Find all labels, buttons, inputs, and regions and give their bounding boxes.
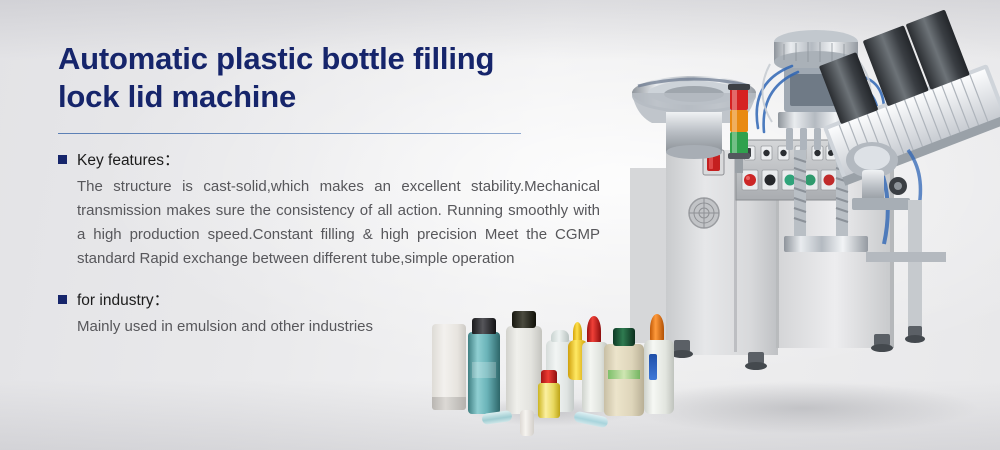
bullet-label: Key features： [77,151,180,171]
text-column: Automatic plastic bottle filling lock li… [58,40,633,354]
headline-line-2: lock lid machine [58,79,296,114]
title-divider [58,133,521,134]
orange-tip-glue-bottle [644,314,674,414]
bullet-label: for industry： [77,291,169,311]
green-cap-lotion-bottle [604,344,644,416]
ventilation-fan-grille [689,198,719,228]
machine-floor-shadow [628,382,978,434]
lying-tube-front [520,410,534,436]
control-panel-button-row [742,170,837,190]
page-title: Automatic plastic bottle filling lock li… [58,40,558,116]
bottle-label [608,370,640,379]
headline-line-1: Automatic plastic bottle filling [58,41,494,76]
feature-body-text: The structure is cast-solid,which makes … [77,175,600,271]
feature-block-for-industry: for industry： Mainly used in emulsion an… [58,291,633,339]
bullet-line: Key features： [58,151,633,171]
small-red-cap-bottle [538,370,560,418]
feature-block-key-features: Key features： The structure is cast-soli… [58,151,633,271]
industry-body-text: Mainly used in emulsion and other indust… [77,315,600,339]
bottle-body [538,383,560,418]
bullet-square-icon [58,155,67,164]
bullet-square-icon [58,295,67,304]
bottle-label [472,362,496,378]
bullet-line: for industry： [58,291,633,311]
product-banner: Automatic plastic bottle filling lock li… [0,0,1000,450]
bottle-label [649,354,657,380]
